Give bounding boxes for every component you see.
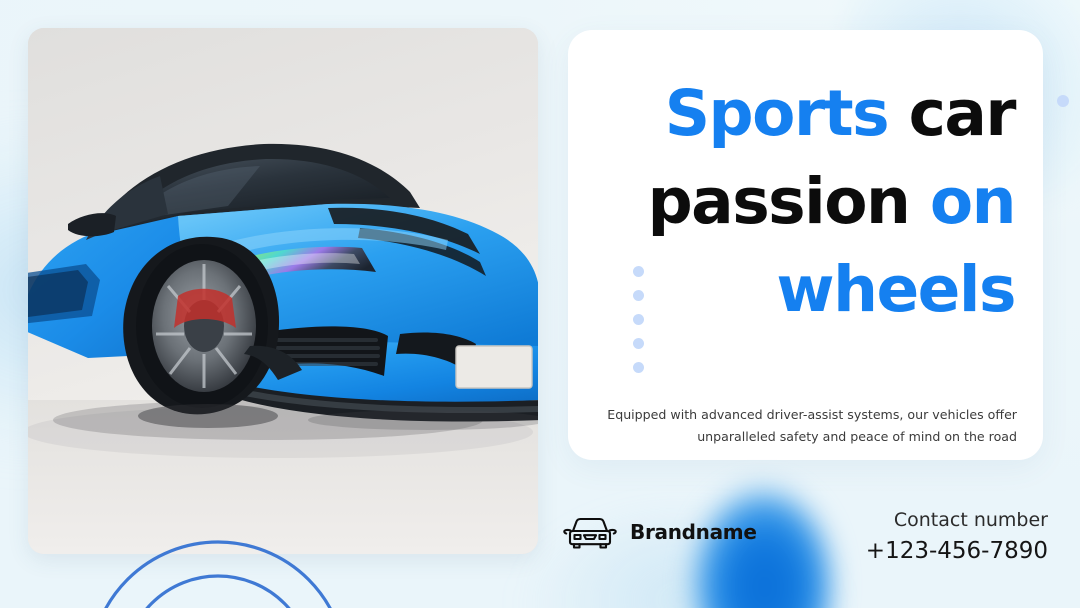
poster-canvas: Sports car passion on wheels Equipped wi… [0, 0, 1080, 608]
brand-name: Brandname [630, 520, 757, 544]
decorative-dot-5 [633, 362, 644, 373]
decorative-dot-3 [633, 314, 644, 325]
headline-word-passion: passion [648, 165, 910, 238]
headline-card: Sports car passion on wheels Equipped wi… [568, 30, 1043, 460]
contact-block: Contact number +123-456-7890 [866, 505, 1048, 567]
arc-rings-icon [60, 520, 390, 608]
decorative-dot-1 [633, 266, 644, 277]
headline-word-car: car [909, 77, 1015, 150]
headline-word-on: on [930, 165, 1015, 238]
car-front-icon [562, 512, 618, 552]
decorative-dot-2 [633, 290, 644, 301]
decorative-arcs [60, 520, 390, 608]
headline-word-sports: Sports [665, 77, 888, 150]
contact-label: Contact number [866, 505, 1048, 535]
decorative-dot-right [1057, 95, 1069, 107]
headline-word-wheels: wheels [776, 253, 1015, 326]
brand-logo[interactable]: Brandname [562, 512, 757, 552]
contact-number[interactable]: +123-456-7890 [866, 535, 1048, 567]
body-copy: Equipped with advanced driver-assist sys… [606, 404, 1017, 448]
car-photo [28, 28, 538, 554]
car-photo-illustration [28, 28, 538, 554]
decorative-dot-4 [633, 338, 644, 349]
decorative-dot-column [633, 266, 644, 373]
page-title: Sports car passion on wheels [596, 70, 1015, 334]
